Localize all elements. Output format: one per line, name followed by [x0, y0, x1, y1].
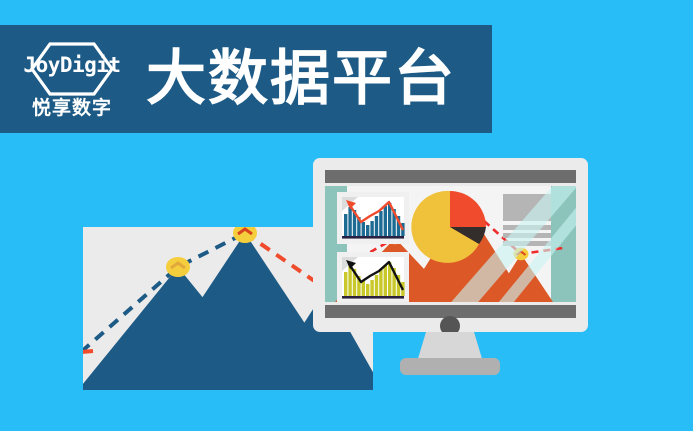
olive-bar-chart-card: [337, 252, 409, 304]
axis-line: [342, 296, 404, 299]
monitor-stand: [417, 332, 483, 362]
logo-subtitle: 悦享数字: [32, 99, 112, 118]
axis-line: [342, 236, 404, 239]
monitor-base: [400, 358, 500, 375]
trend-dash-tip: [83, 351, 93, 352]
monitor-top-bar: [325, 170, 576, 183]
blue-bar-chart-card: [337, 192, 409, 244]
hexagon-icon: JoyDigit: [22, 41, 122, 97]
data-marker: [166, 257, 190, 277]
header-banner: JoyDigit 悦享数字 大数据平台: [0, 25, 492, 133]
poster-canvas: JoyDigit 悦享数字 大数据平台: [0, 0, 693, 431]
page-title: 大数据平台: [146, 49, 456, 109]
brand-logo: JoyDigit 悦享数字: [12, 34, 132, 124]
logo-wordmark: JoyDigit: [22, 55, 122, 76]
desktop-monitor: [313, 158, 588, 386]
